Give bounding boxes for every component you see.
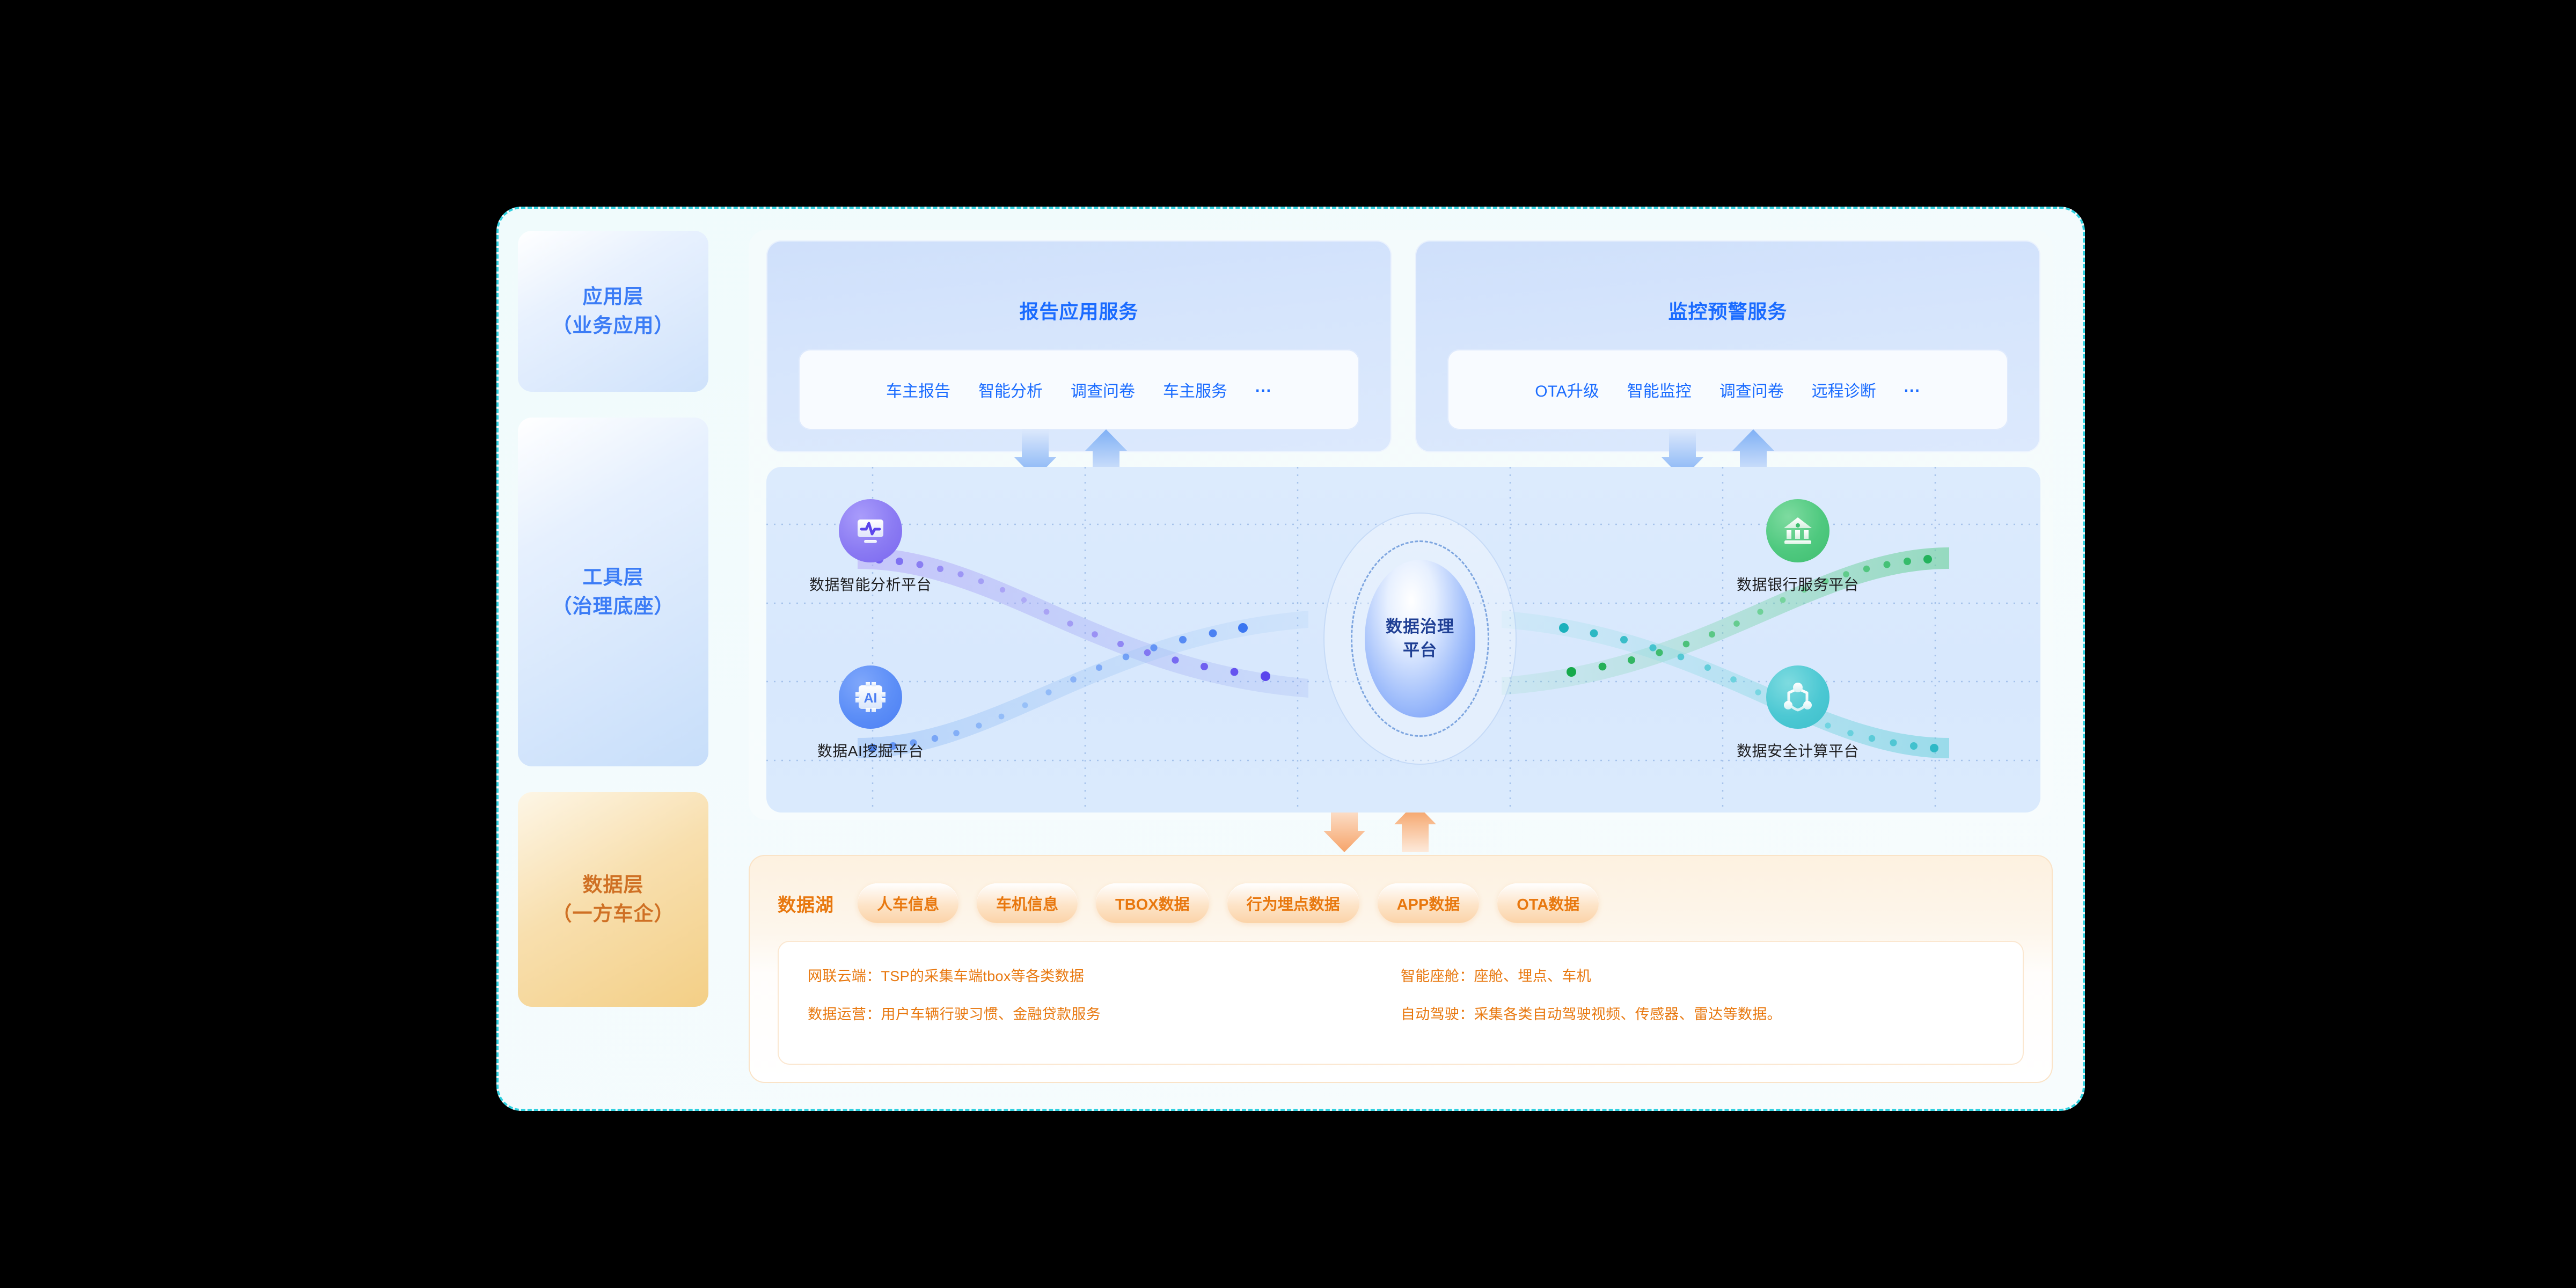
service-tag[interactable]: 智能监控 [1627,378,1692,401]
data-source-note: 网联云端：TSP的采集车端tbox等各类数据 [808,964,1401,985]
layer-tool-sub: （治理底座） [552,592,675,621]
platform-node-secure-label: 数据安全计算平台 [1717,740,1878,761]
data-layer-panel: 数据湖 人车信息 车机信息 TBOX数据 行为埋点数据 APP数据 OTA数据 … [749,855,2053,1083]
service-card-monitor-title: 监控预警服务 [1415,296,2040,324]
bank-icon [1781,514,1815,548]
data-lake-pill[interactable]: 车机信息 [977,883,1078,923]
service-tag[interactable]: 车主服务 [1163,378,1227,401]
data-source-notes-right: 智能座舱：座舱、埋点、车机 自动驾驶：采集各类自动驾驶视频、传感器、雷达等数据。 [1401,964,1994,1041]
layer-application-name: 应用层 [583,282,644,311]
service-card-report[interactable]: 报告应用服务 车主报告 智能分析 调查问卷 车主服务 ... [766,240,1392,452]
data-governance-hub[interactable]: 数据治理 平台 [1294,513,1546,765]
platform-node-ai-bubble: AI [839,665,902,729]
service-tag[interactable]: 调查问卷 [1071,378,1135,401]
layer-rail: 应用层 （业务应用） 工具层 （治理底座） 数据层 （一方车企） [518,231,708,1089]
data-lake-pill[interactable]: 人车信息 [858,883,958,923]
data-source-note: 自动驾驶：采集各类自动驾驶视频、传感器、雷达等数据。 [1401,1002,1994,1023]
platform-node-bank-bubble [1766,499,1829,562]
hub-title-line2: 平台 [1403,639,1437,662]
hub-core[interactable]: 数据治理 平台 [1365,560,1475,718]
data-source-notes: 网联云端：TSP的采集车端tbox等各类数据 数据运营：用户车辆行驶习惯、金融贷… [778,941,2024,1065]
data-lake-row: 数据湖 人车信息 车机信息 TBOX数据 行为埋点数据 APP数据 OTA数据 [778,882,2024,925]
layer-data-name: 数据层 [583,870,644,899]
secure-node-icon [1781,680,1815,714]
platform-node-secure[interactable]: 数据安全计算平台 [1717,665,1878,761]
data-source-note: 数据运营：用户车辆行驶习惯、金融贷款服务 [808,1002,1401,1023]
service-tag-more[interactable]: ... [1904,378,1921,401]
layer-tool-name: 工具层 [583,563,644,592]
service-tag-more[interactable]: ... [1255,378,1272,401]
data-source-notes-left: 网联云端：TSP的采集车端tbox等各类数据 数据运营：用户车辆行驶习惯、金融贷… [808,964,1401,1041]
layer-application-sub: （业务应用） [552,311,675,340]
platform-node-analysis-label: 数据智能分析平台 [790,573,951,595]
platform-node-bank-label: 数据银行服务平台 [1717,573,1878,595]
data-source-note: 智能座舱：座舱、埋点、车机 [1401,964,1994,985]
platform-node-analysis-bubble [839,499,902,562]
svg-text:AI: AI [864,691,877,706]
data-lake-title: 数据湖 [778,890,834,917]
service-tag[interactable]: OTA升级 [1535,378,1599,401]
platform-node-ai[interactable]: AI 数据AI挖掘平台 [790,665,951,761]
ai-chip-icon: AI [853,680,888,714]
layer-chip-data[interactable]: 数据层 （一方车企） [518,792,708,1007]
service-card-monitor-tagbar: OTA升级 智能监控 调查问卷 远程诊断 ... [1447,349,2008,430]
data-lake-pill[interactable]: 行为埋点数据 [1227,883,1359,923]
service-card-report-title: 报告应用服务 [766,296,1392,324]
layer-chip-application[interactable]: 应用层 （业务应用） [518,231,708,392]
monitor-pulse-icon [853,514,888,548]
data-lake-pill[interactable]: APP数据 [1378,883,1480,923]
service-card-monitor[interactable]: 监控预警服务 OTA升级 智能监控 调查问卷 远程诊断 ... [1415,240,2040,452]
service-tag[interactable]: 智能分析 [978,378,1043,401]
data-lake-pill[interactable]: TBOX数据 [1096,883,1209,923]
platform-node-bank[interactable]: 数据银行服务平台 [1717,499,1878,595]
platform-node-secure-bubble [1766,665,1829,729]
data-lake-pill[interactable]: OTA数据 [1497,883,1599,923]
service-card-report-tagbar: 车主报告 智能分析 调查问卷 车主服务 ... [799,349,1359,430]
platform-node-analysis[interactable]: 数据智能分析平台 [790,499,951,595]
service-tag[interactable]: 调查问卷 [1719,378,1784,401]
platform-node-ai-label: 数据AI挖掘平台 [790,740,951,761]
service-tag[interactable]: 远程诊断 [1812,378,1876,401]
service-tag[interactable]: 车主报告 [886,378,950,401]
layer-chip-tool[interactable]: 工具层 （治理底座） [518,418,708,766]
hub-title-line1: 数据治理 [1386,615,1454,639]
layer-data-sub: （一方车企） [552,899,675,928]
